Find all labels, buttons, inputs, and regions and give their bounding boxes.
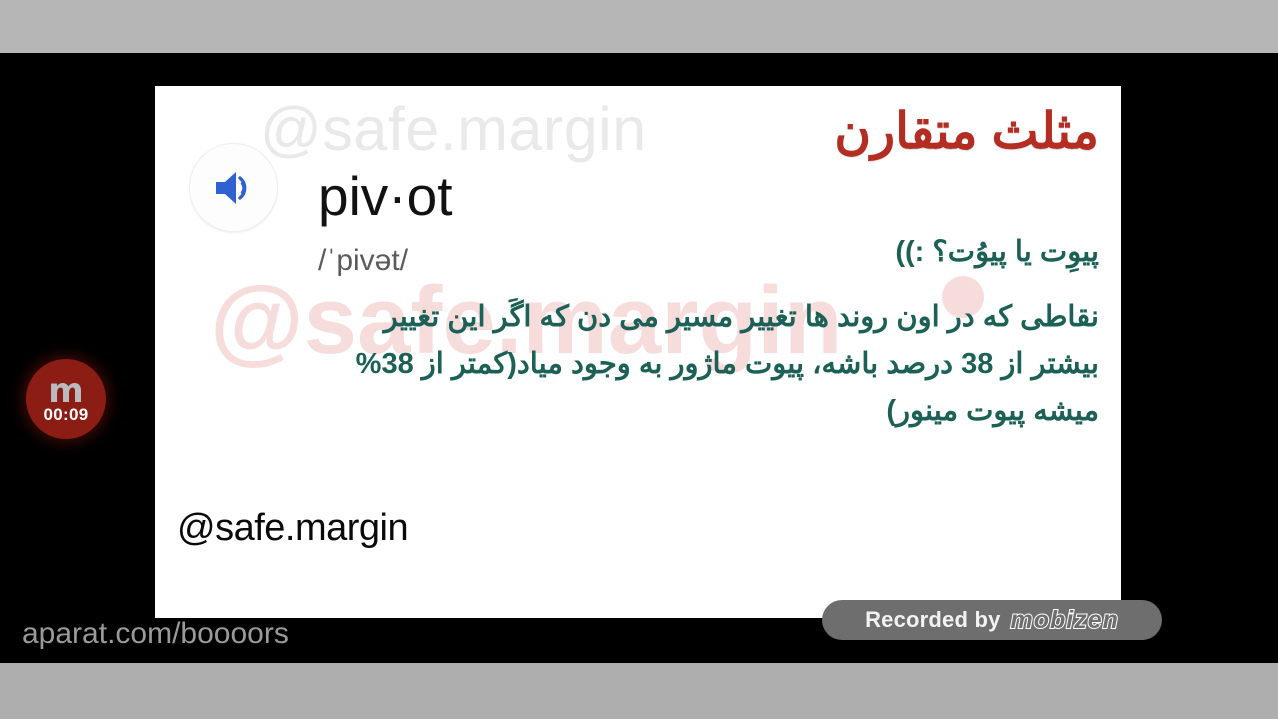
- recorded-by-badge: Recorded by mobizen: [822, 600, 1162, 640]
- letterbox-bar-bottom: [0, 663, 1278, 719]
- account-handle: @safe.margin: [177, 507, 408, 550]
- recorded-by-label: Recorded by: [865, 607, 1000, 633]
- persian-body-text: نقاطی که در اون روند ها تغییر مسیر می دن…: [309, 294, 1099, 435]
- persian-subtitle: پیوِت یا پیوُت؟ :)): [895, 234, 1099, 269]
- speaker-icon[interactable]: [189, 143, 278, 232]
- dictionary-phonetic: /ˈpivət/: [318, 244, 408, 278]
- watermark-gray-handle: @safe.margin: [260, 94, 647, 164]
- slide-content-card: @safe.margin @safe.margin piv·ot /ˈpivət…: [155, 86, 1121, 618]
- mobizen-wordmark: mobizen: [1011, 606, 1119, 635]
- recording-timer: 00:09: [44, 406, 89, 424]
- letterbox-bar-top: [0, 0, 1278, 53]
- recorder-timer-bubble[interactable]: m 00:09: [26, 359, 106, 439]
- dictionary-word: piv·ot: [318, 164, 453, 228]
- mobizen-logo-icon: m: [48, 376, 83, 406]
- persian-title: مثلث متقارن: [834, 102, 1099, 160]
- source-url-label: aparat.com/boooors: [22, 617, 289, 651]
- video-player-screen: @safe.margin @safe.margin piv·ot /ˈpivət…: [0, 0, 1278, 719]
